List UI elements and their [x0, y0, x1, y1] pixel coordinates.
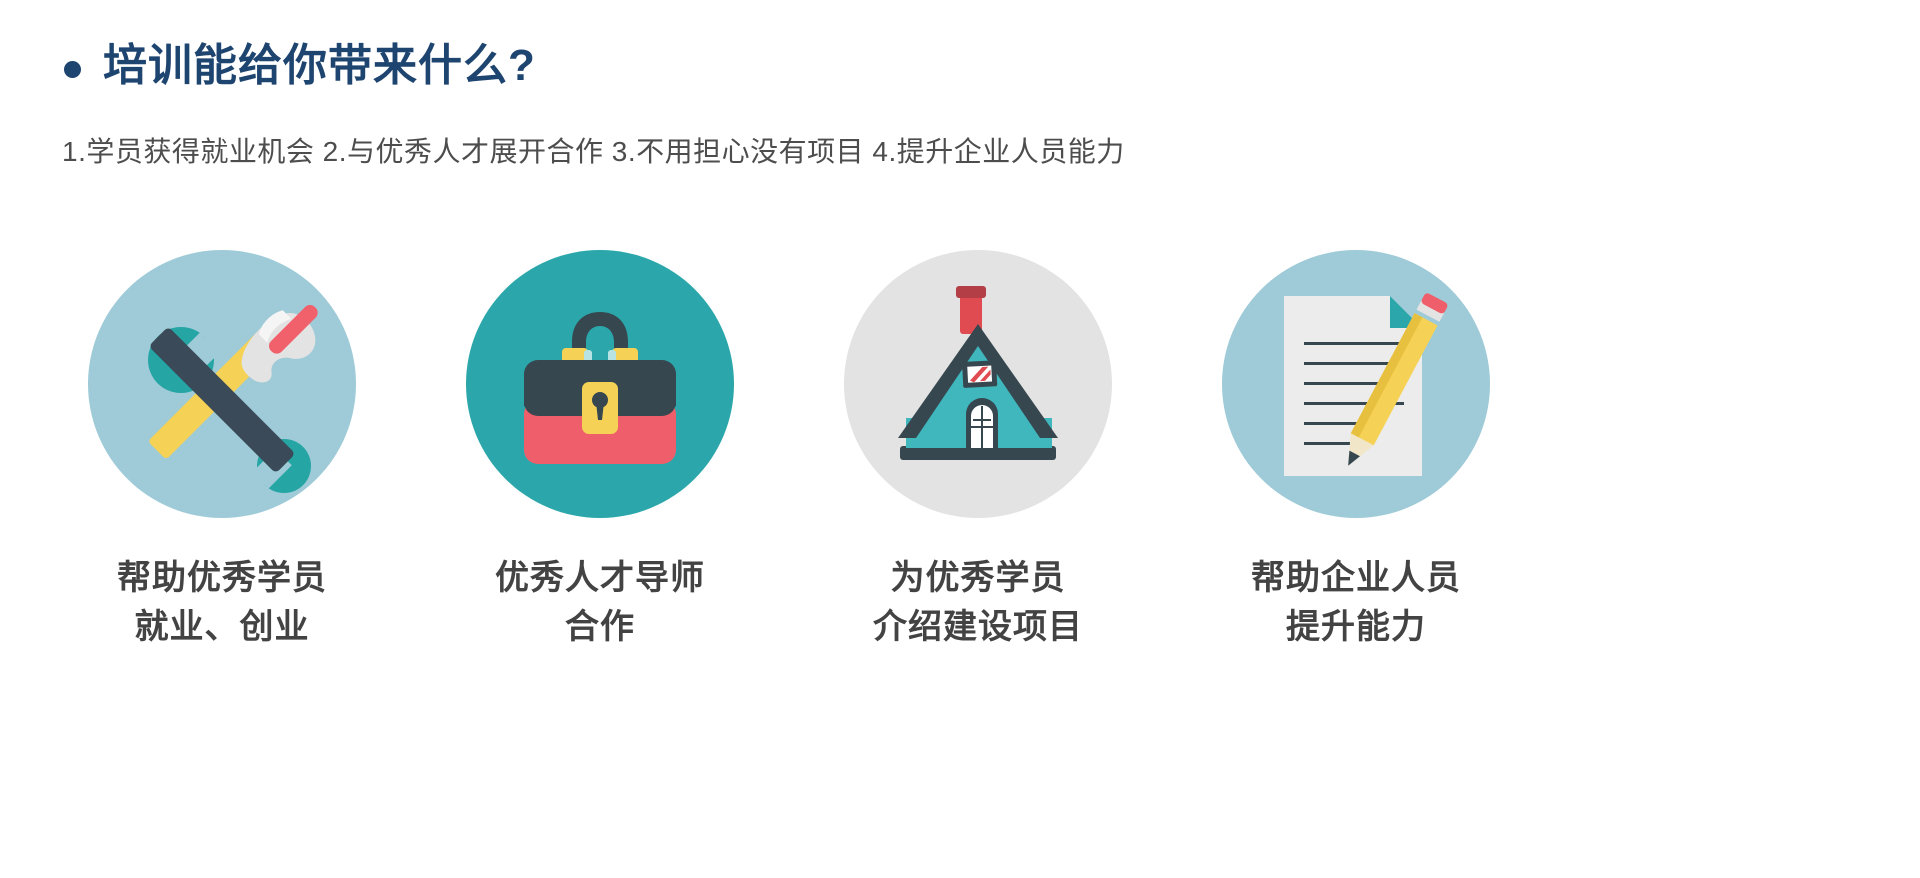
feature-card-4[interactable]: 帮助企业人员 提升能力: [1186, 250, 1526, 653]
feature-card-1[interactable]: 帮助优秀学员 就业、创业: [52, 250, 392, 653]
briefcase-icon: [466, 250, 734, 518]
house-icon: [844, 250, 1112, 518]
feature-card-1-label-line2: 就业、创业: [117, 603, 327, 652]
bullet-dot-icon: [64, 61, 81, 78]
feature-card-1-label: 帮助优秀学员 就业、创业: [117, 554, 327, 653]
feature-card-4-label-line2: 提升能力: [1251, 603, 1461, 652]
slide-canvas: 培训能给你带来什么? 1.学员获得就业机会 2.与优秀人才展开合作 3.不用担心…: [0, 0, 1920, 878]
feature-card-1-label-line1: 帮助优秀学员: [117, 559, 327, 597]
feature-card-4-label-line1: 帮助企业人员: [1251, 559, 1461, 597]
feature-card-3-label-line1: 为优秀学员: [891, 559, 1066, 597]
feature-card-row: 帮助优秀学员 就业、创业: [0, 250, 1920, 653]
feature-card-2-label: 优秀人才导师 合作: [495, 554, 705, 653]
feature-card-2-label-line1: 优秀人才导师: [495, 559, 705, 597]
subtitle-text: 1.学员获得就业机会 2.与优秀人才展开合作 3.不用担心没有项目 4.提升企业…: [62, 130, 1125, 170]
page-title-text: 培训能给你带来什么?: [103, 44, 536, 88]
wrench-hammer-icon: [88, 250, 356, 518]
document-pencil-icon: [1222, 250, 1490, 518]
page-title: 培训能给你带来什么?: [64, 44, 536, 88]
feature-card-3-label-line2: 介绍建设项目: [873, 603, 1083, 652]
feature-card-2-label-line2: 合作: [495, 603, 705, 652]
feature-card-2[interactable]: 优秀人才导师 合作: [430, 250, 770, 653]
feature-card-3-label: 为优秀学员 介绍建设项目: [873, 554, 1083, 653]
feature-card-3[interactable]: 为优秀学员 介绍建设项目: [808, 250, 1148, 653]
feature-card-4-label: 帮助企业人员 提升能力: [1251, 554, 1461, 653]
